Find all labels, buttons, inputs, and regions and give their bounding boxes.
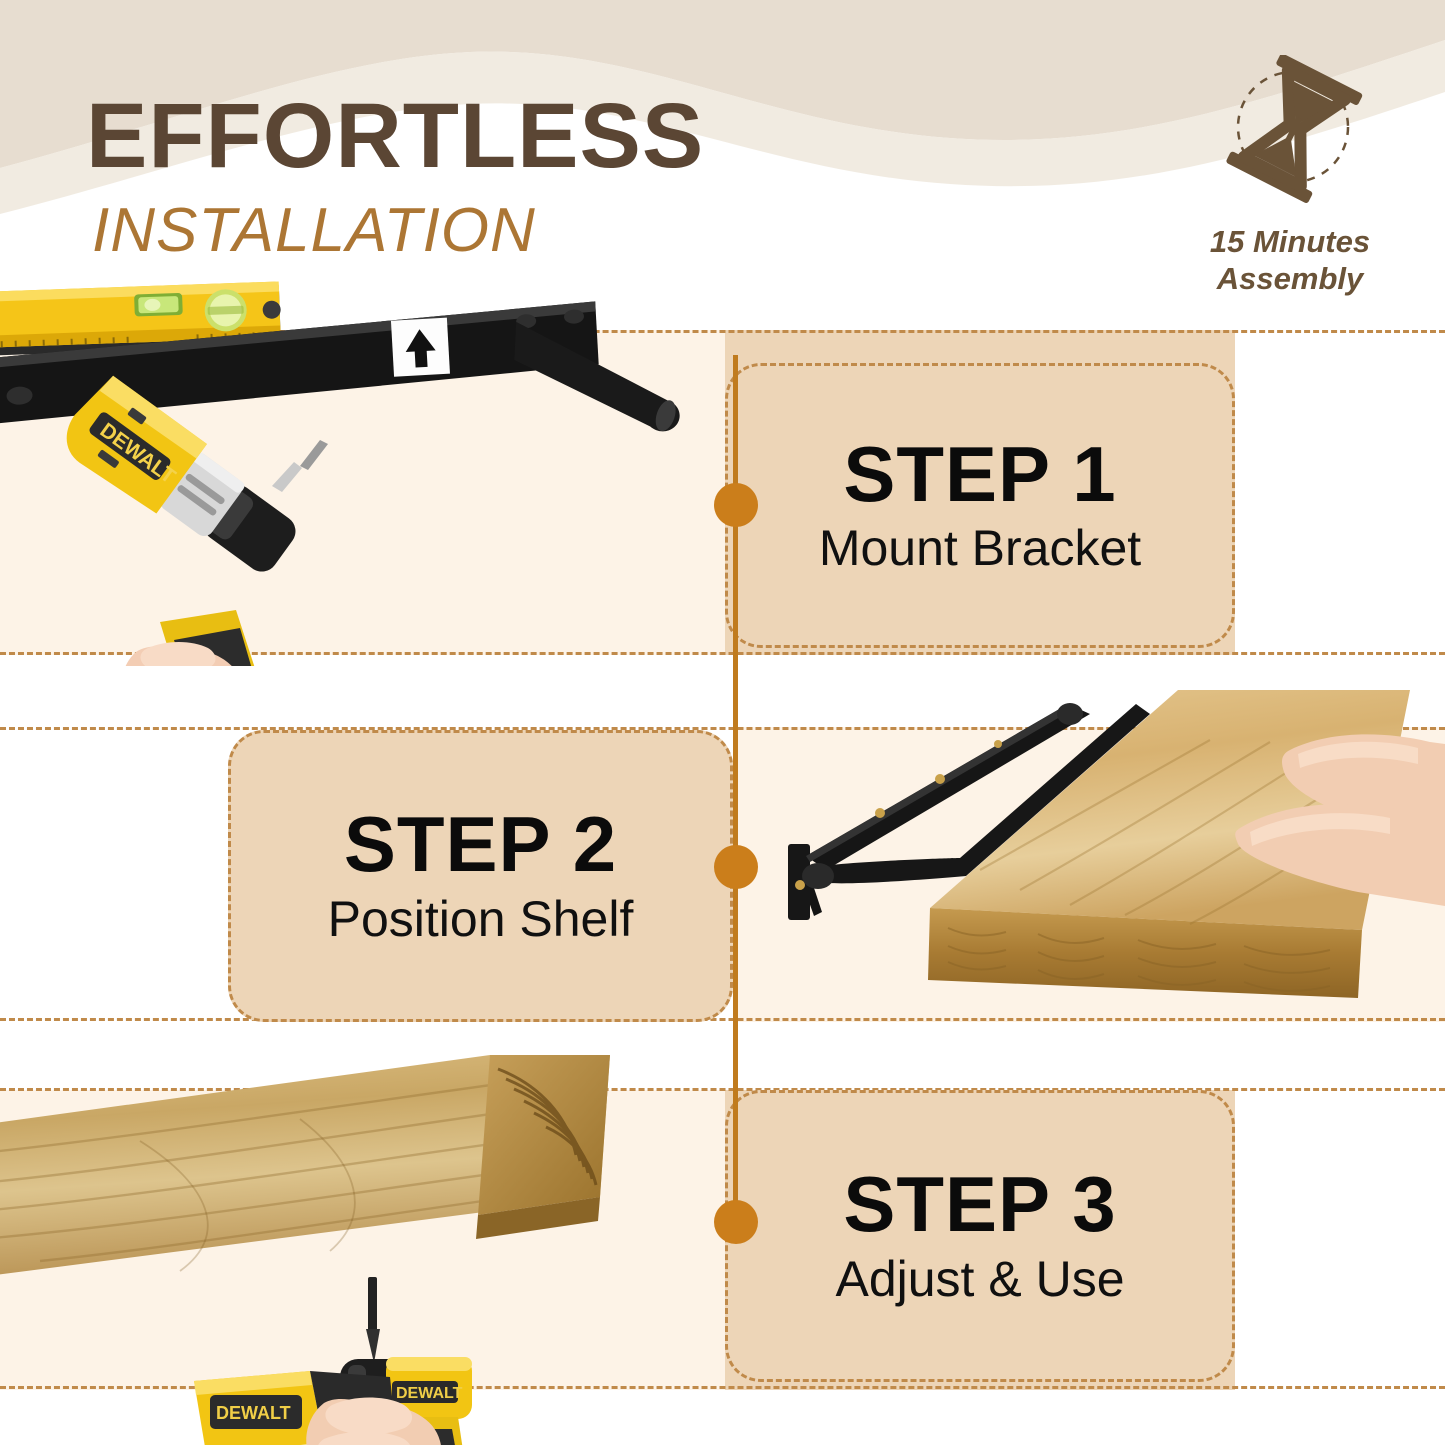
- assembly-time-text: 15 Minutes Assembly: [1175, 223, 1405, 297]
- photo-step-1: DEWALT: [0, 276, 700, 666]
- assembly-time-badge: 15 Minutes Assembly: [1175, 55, 1405, 305]
- assembly-time-line1: 15 Minutes: [1175, 223, 1405, 260]
- row2-left-band: [0, 727, 228, 1022]
- page-subtitle: INSTALLATION: [92, 200, 536, 262]
- step-2-title: STEP 2: [344, 805, 617, 885]
- step-3-title: STEP 3: [843, 1165, 1116, 1245]
- hourglass-icon: [1215, 55, 1375, 215]
- assembly-time-line2: Assembly: [1175, 260, 1405, 297]
- step-1-title: STEP 1: [843, 435, 1116, 515]
- timeline-dot-1[interactable]: [714, 483, 758, 527]
- row1-right-band: [1235, 330, 1445, 655]
- step-2-panel[interactable]: STEP 2 Position Shelf: [228, 730, 733, 1022]
- svg-text:DEWALT: DEWALT: [216, 1403, 291, 1423]
- timeline-dot-3[interactable]: [714, 1200, 758, 1244]
- step-3-panel[interactable]: STEP 3 Adjust & Use: [725, 1090, 1235, 1382]
- header: EFFORTLESS INSTALLATION 15 Minutes Assem…: [0, 0, 1445, 320]
- photo-step-3: DEWALT DEWALT: [0, 1045, 730, 1445]
- step-2-caption: Position Shelf: [328, 891, 634, 947]
- photo-step-2: [770, 680, 1445, 1052]
- step-1-caption: Mount Bracket: [819, 520, 1141, 576]
- svg-text:DEWALT: DEWALT: [396, 1385, 463, 1402]
- step-1-panel[interactable]: STEP 1 Mount Bracket: [725, 363, 1235, 648]
- infographic-root: EFFORTLESS INSTALLATION 15 Minutes Assem…: [0, 0, 1445, 1445]
- timeline-dot-2[interactable]: [714, 845, 758, 889]
- row3-right-band: [1235, 1090, 1445, 1390]
- page-title: EFFORTLESS: [86, 90, 704, 182]
- step-3-caption: Adjust & Use: [835, 1251, 1124, 1307]
